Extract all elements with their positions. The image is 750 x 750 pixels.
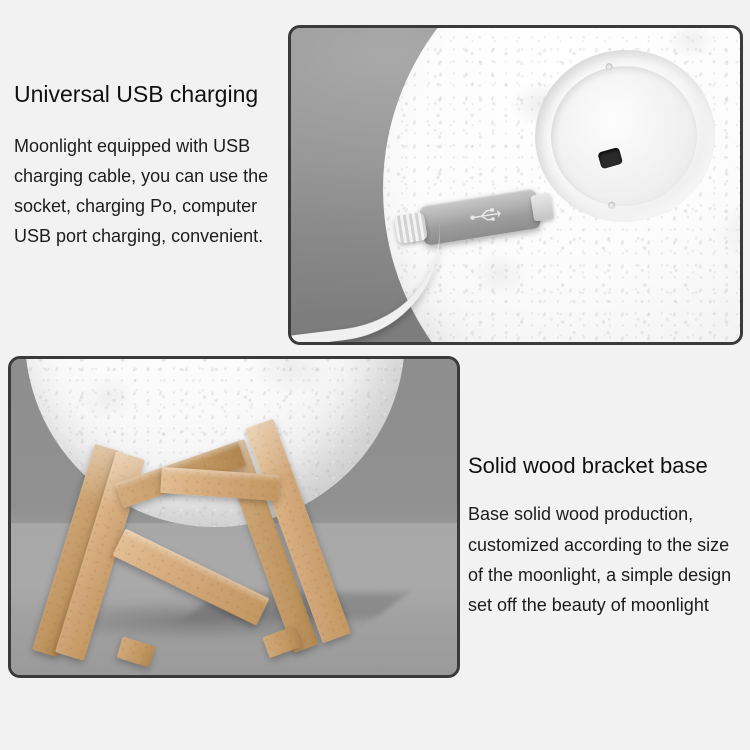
bracket-foot-right xyxy=(262,626,301,658)
usb-connector-tip xyxy=(530,193,554,222)
usb-charging-photo-panel xyxy=(288,25,743,345)
usb-charging-text-block: Universal USB charging Moonlight equippe… xyxy=(14,80,282,251)
wood-grain xyxy=(112,529,269,626)
wood-bracket-body: Base solid wood production, customized a… xyxy=(468,499,746,620)
usb-charging-body: Moonlight equipped with USB charging cab… xyxy=(14,131,282,252)
solid-wood-bracket xyxy=(11,359,457,675)
base-screw-bottom xyxy=(608,201,616,209)
wood-bracket-heading: Solid wood bracket base xyxy=(468,452,746,479)
bracket-foot-left xyxy=(117,637,156,668)
wood-bracket-photo-panel xyxy=(8,356,460,678)
wood-grain xyxy=(262,626,301,658)
charging-base-inner-face xyxy=(544,59,704,213)
moon-lamp-sphere xyxy=(383,25,743,345)
wood-bracket-text-block: Solid wood bracket base Base solid wood … xyxy=(468,452,746,620)
wood-grain xyxy=(117,637,156,668)
usb-charging-heading: Universal USB charging xyxy=(14,80,282,109)
bracket-cross-arm-right xyxy=(112,529,269,626)
product-feature-collage: Universal USB charging Moonlight equippe… xyxy=(0,0,750,750)
